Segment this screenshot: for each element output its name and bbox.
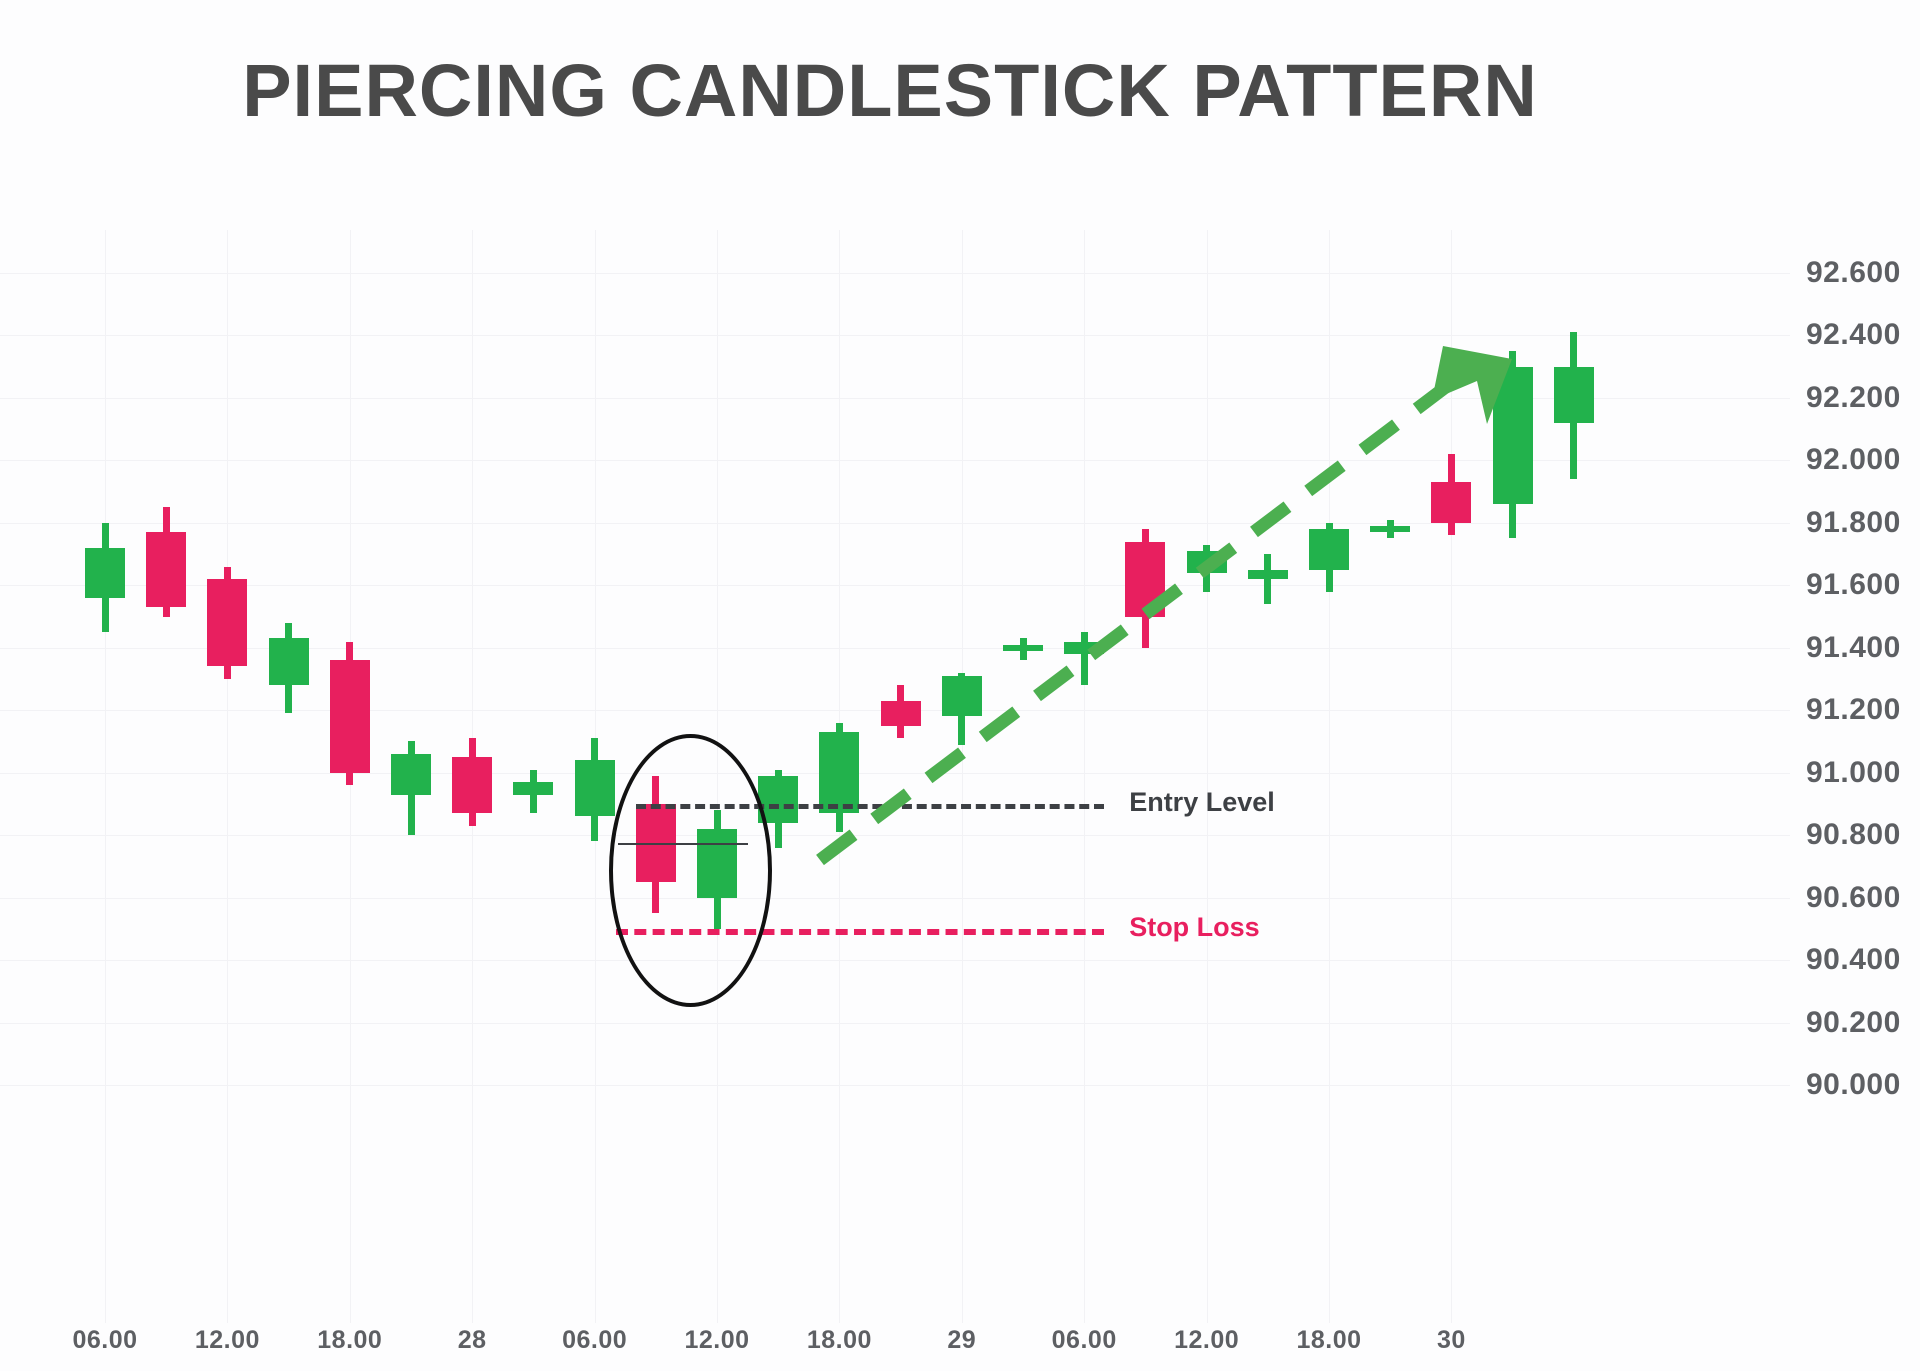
candle-body — [146, 532, 186, 607]
candlestick — [1493, 351, 1533, 538]
x-axis-tick-label: 28 — [458, 1326, 487, 1355]
candle-body — [269, 638, 309, 685]
candlestick — [1309, 523, 1349, 592]
candle-body — [1003, 645, 1043, 651]
gridline-horizontal — [0, 1085, 1790, 1086]
candlestick — [575, 738, 615, 841]
candle-body — [575, 760, 615, 816]
gridline-horizontal — [0, 1023, 1790, 1024]
x-axis-tick-label: 18.00 — [807, 1326, 872, 1355]
candlestick — [146, 507, 186, 616]
y-axis-tick-label: 91.400 — [1806, 631, 1920, 665]
candlestick — [1431, 454, 1471, 535]
candlestick — [1064, 632, 1104, 685]
x-axis-tick-label: 12.00 — [1174, 1326, 1239, 1355]
gridline-vertical — [1207, 230, 1208, 1323]
gridline-vertical — [227, 230, 228, 1323]
gridline-horizontal — [0, 273, 1790, 274]
gridline-vertical — [1451, 230, 1452, 1323]
candlestick — [452, 738, 492, 825]
entry-level-label: Entry Level — [1129, 787, 1275, 818]
y-axis-tick-label: 91.600 — [1806, 568, 1920, 602]
candle-body — [1554, 367, 1594, 423]
y-axis-tick-label: 90.800 — [1806, 818, 1920, 852]
candle-body — [1493, 367, 1533, 504]
candlestick — [85, 523, 125, 632]
x-axis-tick-label: 30 — [1437, 1326, 1466, 1355]
candlestick — [1187, 545, 1227, 592]
candlestick — [819, 723, 859, 832]
y-axis-tick-label: 90.600 — [1806, 881, 1920, 915]
x-axis-tick-label: 12.00 — [195, 1326, 260, 1355]
candlestick — [942, 673, 982, 745]
x-axis-tick-label: 18.00 — [1296, 1326, 1361, 1355]
x-axis-tick-label: 12.00 — [684, 1326, 749, 1355]
candle-body — [85, 548, 125, 598]
candle-body — [1187, 551, 1227, 573]
candle-body — [391, 754, 431, 795]
x-axis-tick-label: 06.00 — [72, 1326, 137, 1355]
y-axis-tick-label: 90.200 — [1806, 1006, 1920, 1040]
candle-body — [1370, 526, 1410, 532]
y-axis-tick-label: 92.200 — [1806, 381, 1920, 415]
y-axis-tick-label: 92.400 — [1806, 318, 1920, 352]
gridline-horizontal — [0, 898, 1790, 899]
gridline-vertical — [1084, 230, 1085, 1323]
pattern-highlight-ellipse — [609, 734, 772, 1007]
candlestick — [1554, 332, 1594, 479]
plot-area — [0, 230, 1790, 1323]
gridline-horizontal — [0, 585, 1790, 586]
y-axis-tick-label: 91.200 — [1806, 693, 1920, 727]
stop-loss-label: Stop Loss — [1129, 912, 1260, 943]
x-axis-tick-label: 29 — [947, 1326, 976, 1355]
candle-body — [513, 782, 553, 794]
gridline-vertical — [1329, 230, 1330, 1323]
candle-body — [1431, 482, 1471, 523]
gridline-vertical — [962, 230, 963, 1323]
candle-body — [1064, 642, 1104, 654]
candle-body — [207, 579, 247, 666]
y-axis-tick-label: 90.400 — [1806, 943, 1920, 977]
candle-wick — [1264, 554, 1271, 604]
x-axis-tick-label: 06.00 — [562, 1326, 627, 1355]
candle-body — [452, 757, 492, 813]
gridline-vertical — [105, 230, 106, 1323]
page-title: PIERCING CANDLESTICK PATTERN — [0, 48, 1780, 133]
candlestick — [1125, 529, 1165, 648]
candlestick — [881, 685, 921, 738]
candlestick — [513, 770, 553, 814]
y-axis-tick-label: 92.600 — [1806, 256, 1920, 290]
y-axis-tick-label: 91.000 — [1806, 756, 1920, 790]
candle-body — [942, 676, 982, 717]
y-axis-tick-label: 90.000 — [1806, 1068, 1920, 1102]
candlestick — [207, 567, 247, 679]
gridline-horizontal — [0, 960, 1790, 961]
y-axis-tick-label: 91.800 — [1806, 506, 1920, 540]
candlestick — [330, 642, 370, 786]
candle-body — [819, 732, 859, 813]
candle-body — [1248, 570, 1288, 579]
x-axis-tick-label: 06.00 — [1052, 1326, 1117, 1355]
y-axis-tick-label: 92.000 — [1806, 443, 1920, 477]
chart-page: PIERCING CANDLESTICK PATTERN Entry Level… — [0, 0, 1920, 1371]
gridline-horizontal — [0, 773, 1790, 774]
candle-body — [881, 701, 921, 726]
candlestick — [1003, 638, 1043, 660]
candle-body — [330, 660, 370, 772]
candlestick — [1370, 520, 1410, 539]
gridline-horizontal — [0, 335, 1790, 336]
candlestick — [1248, 554, 1288, 604]
gridline-horizontal — [0, 835, 1790, 836]
candlestick — [269, 623, 309, 714]
candlestick — [391, 741, 431, 835]
x-axis-tick-label: 18.00 — [317, 1326, 382, 1355]
candle-body — [1309, 529, 1349, 570]
candle-body — [1125, 542, 1165, 617]
candle-wick — [1081, 632, 1088, 685]
